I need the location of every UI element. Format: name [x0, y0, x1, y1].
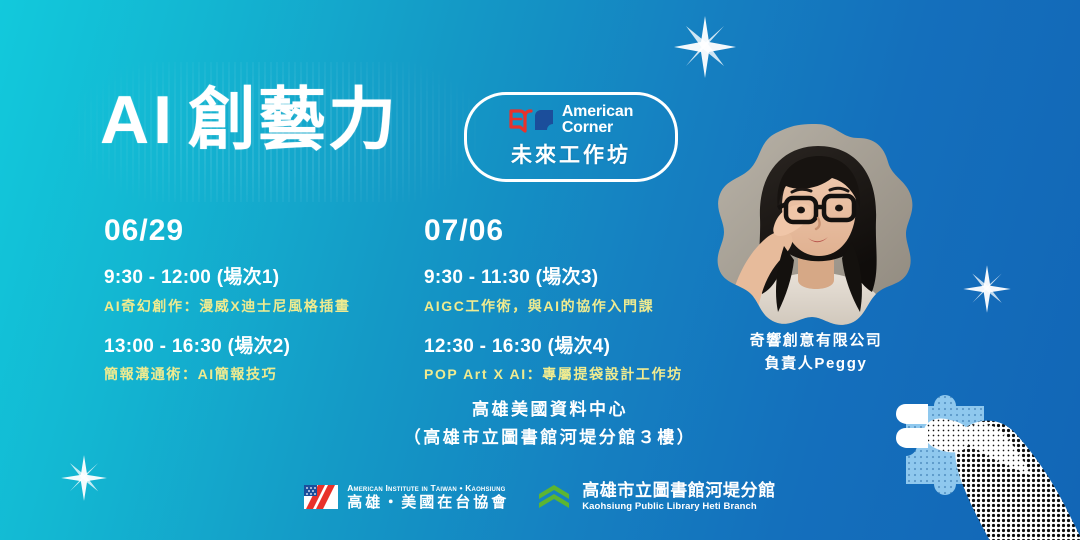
- ait-logo: American Institute in Taiwan • Kaohsiung…: [304, 484, 509, 511]
- open-book-icon: [509, 107, 555, 133]
- american-flag-icon: [304, 485, 338, 509]
- sparkle-icon: [672, 14, 738, 80]
- session-time: 9:30 - 11:30: [424, 267, 536, 288]
- session-time-line: 12:30 - 16:30 (場次4): [424, 333, 683, 362]
- speaker-caption: 奇響創意有限公司 負責人Peggy: [700, 330, 932, 375]
- session-item: 12:30 - 16:30 (場次4) POP Art X AI：專屬提袋設計工…: [424, 333, 683, 386]
- session-number: (場次4): [548, 336, 611, 357]
- session-item: 9:30 - 11:30 (場次3) AIGC工作術，與AI的協作入門課: [424, 264, 683, 317]
- session-time: 13:00 - 16:30: [104, 336, 228, 357]
- ait-english-name: American Institute in Taiwan • Kaohsiung: [347, 484, 509, 493]
- promo-poster: AI創藝力 American Corner 未來工作坊 06/29 9:30 -…: [0, 0, 1080, 540]
- brand-line-american: American: [562, 104, 633, 120]
- speaker-portrait: [712, 122, 920, 330]
- session-description: 簡報溝通術：AI簡報技巧: [104, 363, 351, 385]
- title-cjk-text: 創藝力: [188, 82, 398, 158]
- session-description: AI奇幻創作：漫威X迪士尼風格插畫: [104, 295, 351, 317]
- schedule-date: 07/06: [424, 216, 683, 246]
- session-time-line: 9:30 - 12:00 (場次1): [104, 264, 351, 293]
- ait-chinese-name: 高雄・美國在台協會: [347, 495, 509, 510]
- sparkle-icon: [960, 262, 1014, 316]
- chevron-mark-icon: [535, 482, 573, 512]
- session-time-line: 9:30 - 11:30 (場次3): [424, 264, 683, 293]
- library-english-name: Kaohsiung Public Library Heti Branch: [582, 502, 776, 512]
- page-title: AI創藝力: [100, 86, 398, 154]
- session-number: (場次2): [228, 336, 291, 357]
- venue-block: 高雄美國資料中心 （高雄市立圖書館河堤分館３樓）: [0, 396, 1080, 452]
- venue-name: 高雄美國資料中心: [20, 396, 1080, 424]
- brand-line-corner: Corner: [562, 120, 633, 136]
- session-description: AIGC工作術，與AI的協作入門課: [424, 295, 683, 317]
- session-number: (場次3): [536, 267, 599, 288]
- session-time: 12:30 - 16:30: [424, 336, 548, 357]
- library-chinese-name: 高雄市立圖書館河堤分館: [582, 482, 776, 499]
- sponsor-logos: American Institute in Taiwan • Kaohsiung…: [0, 482, 1080, 512]
- session-description: POP Art X AI：專屬提袋設計工作坊: [424, 363, 683, 385]
- venue-address: （高雄市立圖書館河堤分館３樓）: [20, 424, 1080, 452]
- speaker-role: 負責人Peggy: [700, 353, 932, 376]
- american-corner-brand: American Corner: [509, 104, 633, 135]
- title-latin-text: AI: [100, 82, 176, 158]
- session-time: 9:30 - 12:00: [104, 267, 217, 288]
- speaker-company: 奇響創意有限公司: [700, 330, 932, 353]
- session-time-line: 13:00 - 16:30 (場次2): [104, 333, 351, 362]
- session-item: 13:00 - 16:30 (場次2) 簡報溝通術：AI簡報技巧: [104, 333, 351, 386]
- library-logo: 高雄市立圖書館河堤分館 Kaohsiung Public Library Het…: [535, 482, 776, 512]
- american-corner-badge: American Corner 未來工作坊: [464, 92, 678, 182]
- badge-subtitle: 未來工作坊: [511, 139, 631, 169]
- session-item: 9:30 - 12:00 (場次1) AI奇幻創作：漫威X迪士尼風格插畫: [104, 264, 351, 317]
- schedule-date: 06/29: [104, 216, 351, 246]
- session-number: (場次1): [217, 267, 280, 288]
- schedule-column-left: 06/29 9:30 - 12:00 (場次1) AI奇幻創作：漫威X迪士尼風格…: [104, 216, 351, 402]
- schedule-column-right: 07/06 9:30 - 11:30 (場次3) AIGC工作術，與AI的協作入…: [424, 216, 683, 402]
